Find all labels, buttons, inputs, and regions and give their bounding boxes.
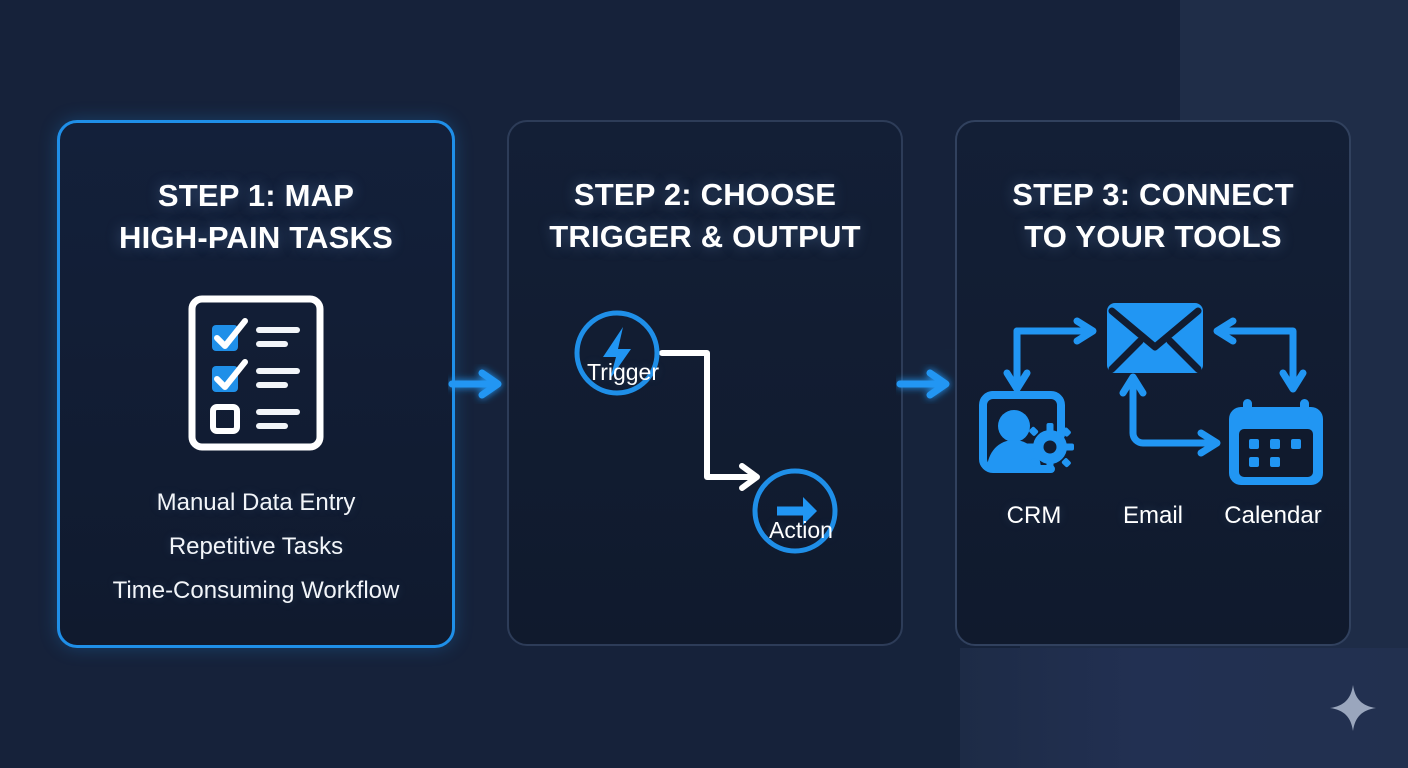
list-item: Repetitive Tasks xyxy=(60,525,452,569)
pain-point-list: Manual Data Entry Repetitive Tasks Time-… xyxy=(60,481,452,613)
trigger-node-label: Trigger xyxy=(543,359,703,386)
action-node-label: Action xyxy=(721,517,881,544)
panel-step-2[interactable]: STEP 2: CHOOSE TRIGGER & OUTPUT Trigger … xyxy=(507,120,903,646)
tools-integration-diagram xyxy=(957,287,1353,537)
trigger-action-flow xyxy=(509,277,905,617)
panel-step-2-title: STEP 2: CHOOSE TRIGGER & OUTPUT xyxy=(509,174,901,258)
sparkle-icon xyxy=(1328,683,1378,733)
list-item: Time-Consuming Workflow xyxy=(60,569,452,613)
panel-step-1-title: STEP 1: MAP HIGH-PAIN TASKS xyxy=(60,175,452,259)
connector-arrow-panel-2-to-3 xyxy=(896,364,960,404)
list-item: Manual Data Entry xyxy=(60,481,452,525)
checklist-icon xyxy=(60,293,452,453)
panel-step-3-title: STEP 3: CONNECT TO YOUR TOOLS xyxy=(957,174,1349,258)
connector-arrow-panel-1-to-2 xyxy=(448,364,512,404)
panel-step-3[interactable]: STEP 3: CONNECT TO YOUR TOOLS xyxy=(955,120,1351,646)
tool-label-calendar: Calendar xyxy=(1193,502,1353,530)
tool-labels: CRM Email Calendar xyxy=(957,502,1353,542)
panel-step-1[interactable]: STEP 1: MAP HIGH-PAIN TASKS Manual Data … xyxy=(57,120,455,648)
